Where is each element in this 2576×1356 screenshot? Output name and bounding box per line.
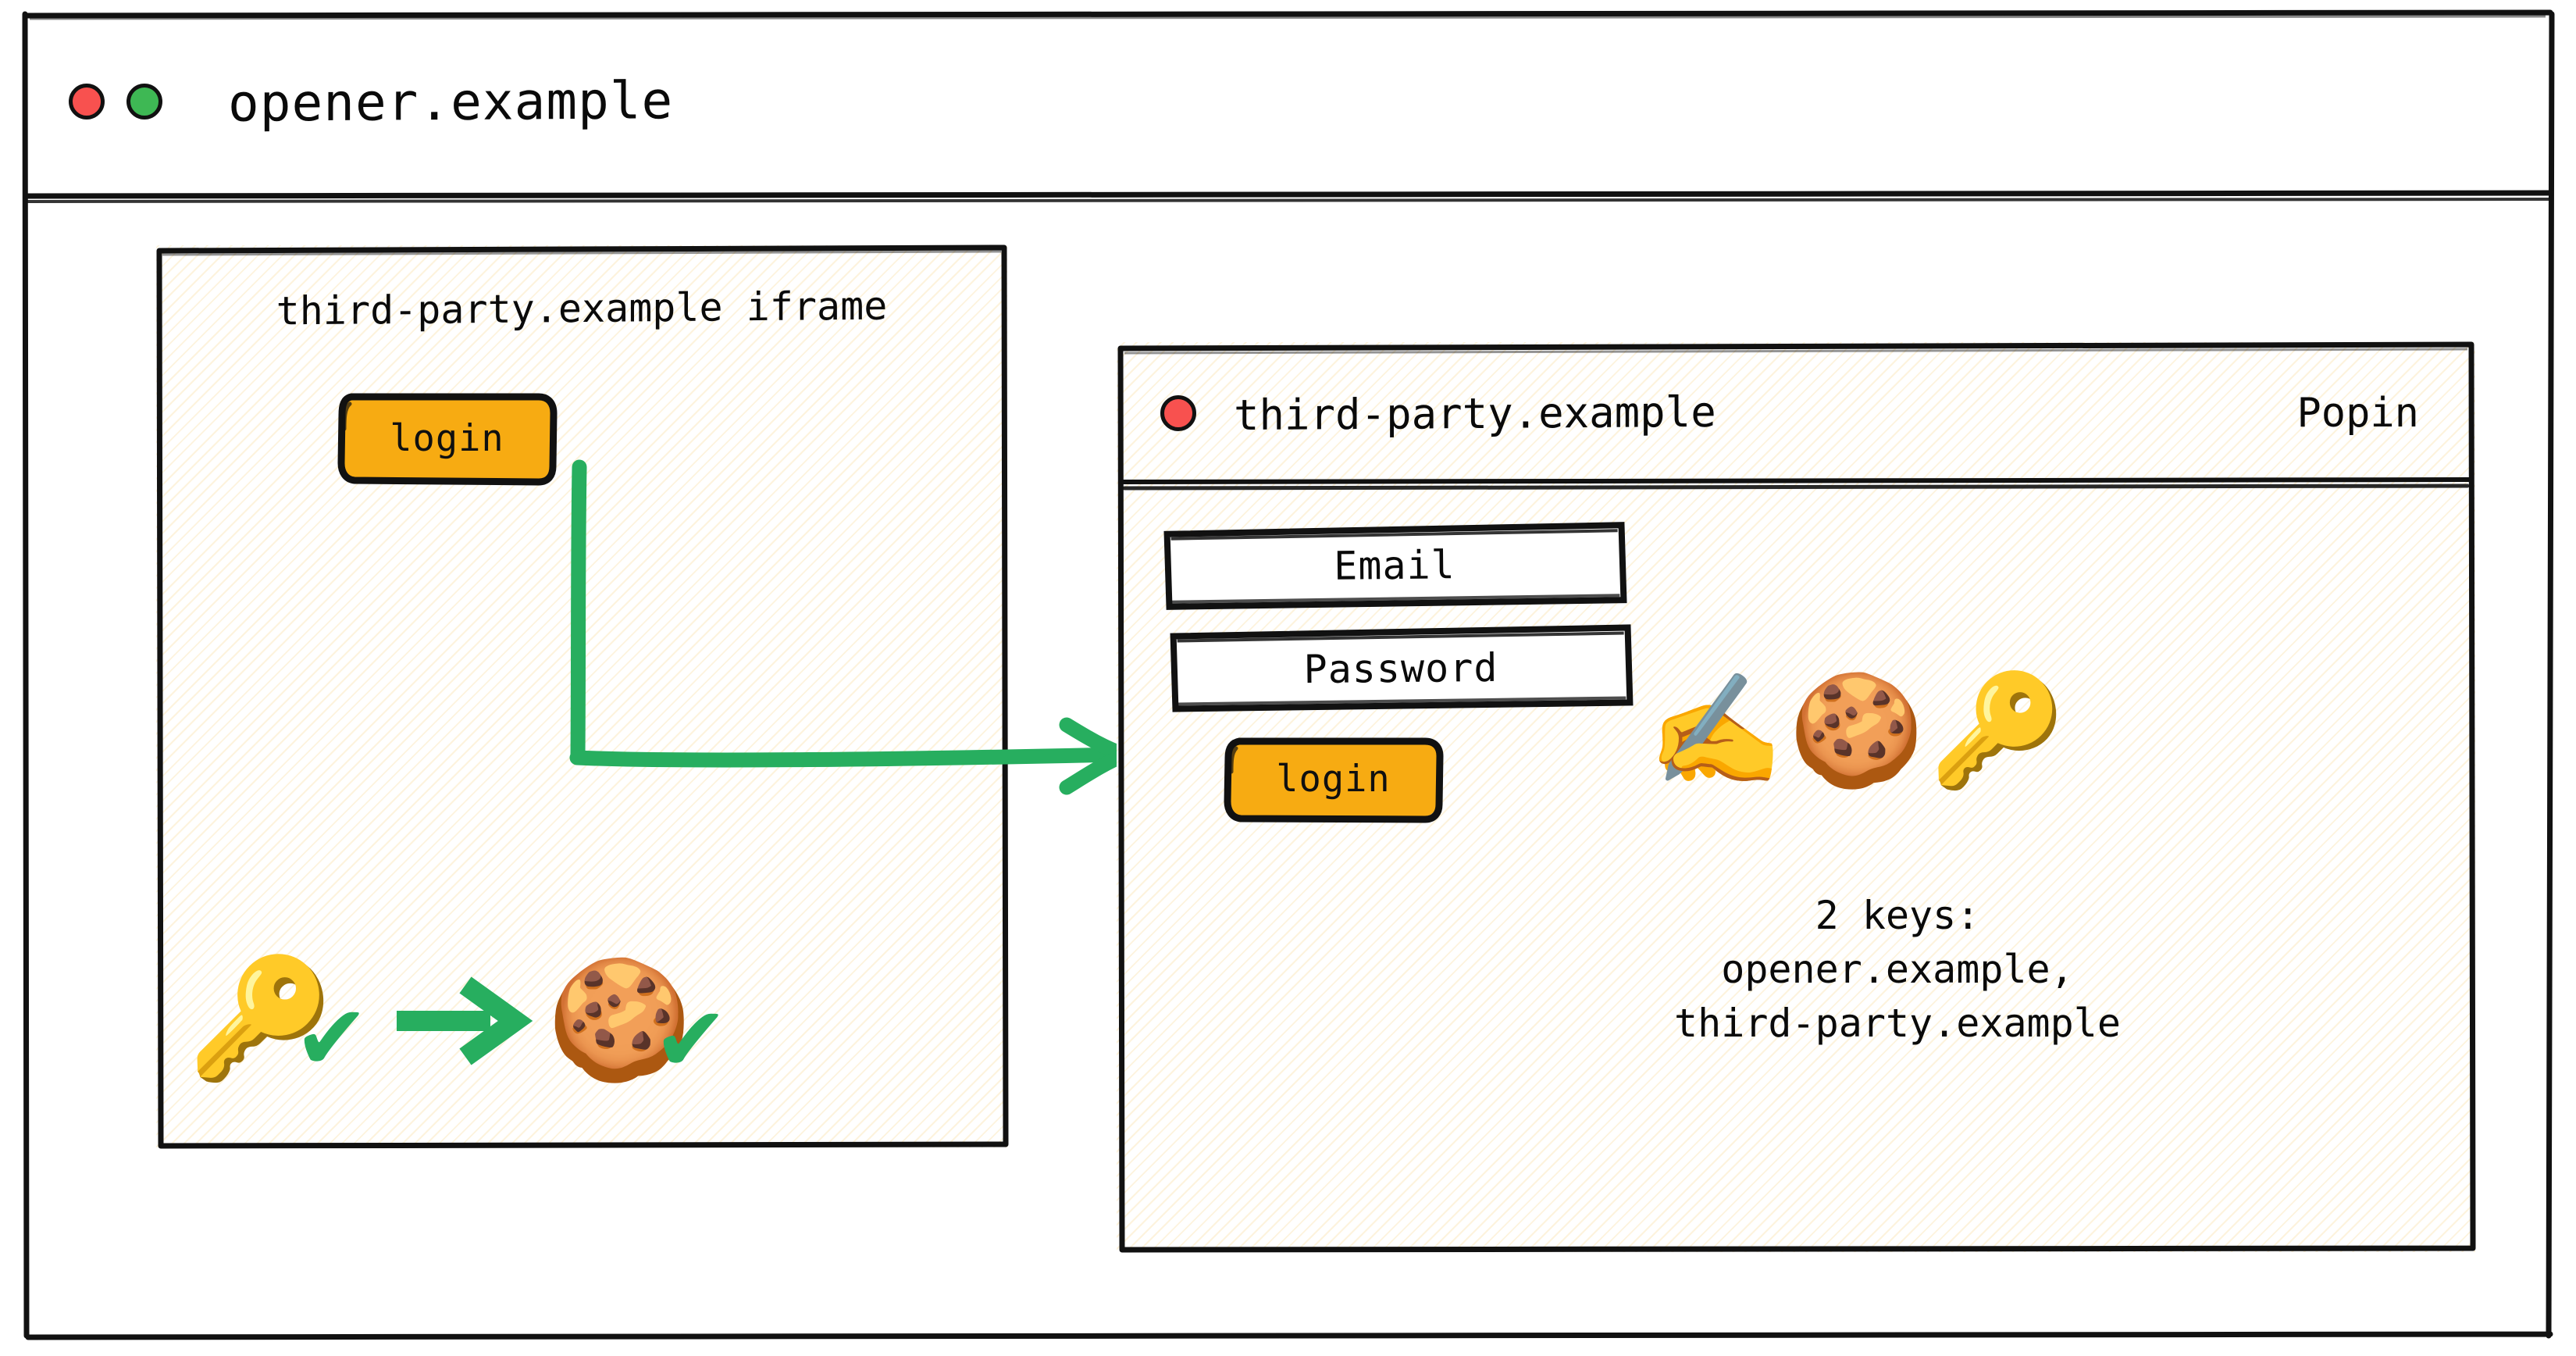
email-field[interactable]: Email: [1168, 527, 1622, 604]
popup-titlebar: third-party.example Popin: [1117, 342, 2475, 484]
popup-login-button[interactable]: login: [1230, 742, 1437, 816]
cookie-check-icon: ✔: [660, 982, 721, 1085]
iframe-login-button[interactable]: login: [344, 398, 550, 480]
popup-kind-label: Popin: [2296, 390, 2419, 437]
email-field-label: Email: [1334, 542, 1455, 588]
keys-caption: 2 keys: opener.example, third-party.exam…: [1601, 889, 2194, 1051]
iframe-login-button-label: login: [390, 417, 504, 460]
key-icon: 🔑: [1929, 676, 2065, 786]
window-title: opener.example: [228, 70, 673, 133]
iframe-storage-row: 🔑 ✔ 🍪 ✔: [156, 932, 1007, 1112]
iframe-panel-title: third-party.example iframe: [156, 282, 1007, 335]
writing-hand-icon: ✍️: [1648, 676, 1783, 786]
popup-title: third-party.example: [1234, 387, 1716, 439]
password-field-label: Password: [1303, 645, 1498, 692]
popup-window: third-party.example Popin Email: [1117, 342, 2475, 1252]
close-button[interactable]: [69, 84, 105, 120]
popup-credential-icons: ✍️ 🍪 🔑: [1648, 676, 2070, 786]
popup-login-button-label: login: [1276, 758, 1390, 801]
password-field[interactable]: Password: [1174, 630, 1628, 706]
popup-titlebar-divider: [1121, 476, 2471, 494]
titlebar-divider: [23, 189, 2553, 208]
window-titlebar: opener.example: [23, 11, 2553, 192]
third-party-iframe-panel: third-party.example iframe login 🔑 ✔ 🍪: [156, 245, 1007, 1147]
cookie-icon: 🍪: [1788, 676, 1924, 786]
browser-window: opener.example third-party.example ifram…: [23, 11, 2553, 1339]
maximize-button[interactable]: [126, 84, 162, 120]
arrow-right-icon: [390, 971, 539, 1072]
popup-close-button[interactable]: [1160, 395, 1196, 431]
key-check-icon: ✔: [301, 980, 362, 1083]
